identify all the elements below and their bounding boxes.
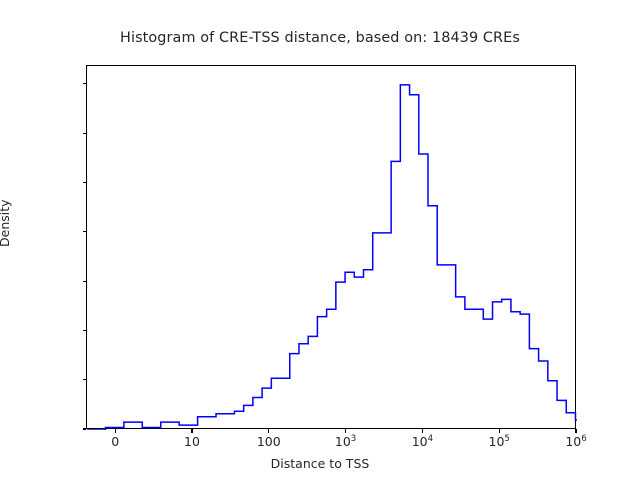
x-tick-label: 104 [412,434,433,449]
histogram-step-plot [87,66,577,430]
x-tick-mantissa: 10 [489,434,505,449]
x-tick-label: 100 [257,434,281,449]
x-tick-label: 103 [335,434,356,449]
histogram-outline [87,85,577,430]
x-axis-label: Distance to TSS [0,456,640,471]
figure-canvas: Histogram of CRE-TSS distance, based on:… [0,0,640,480]
x-tick-mantissa: 10 [412,434,428,449]
x-tick-exponent: 4 [428,434,433,444]
x-tick-label: 0 [111,434,119,449]
x-tick-mantissa: 10 [335,434,351,449]
plot-area [86,65,576,429]
x-tick-label: 105 [489,434,510,449]
chart-title: Histogram of CRE-TSS distance, based on:… [0,30,640,46]
x-tick-exponent: 6 [581,434,586,444]
x-tick-mantissa: 10 [565,434,581,449]
x-tick-exponent: 3 [351,434,356,444]
x-tick-exponent: 5 [504,434,509,444]
x-tick-label: 106 [565,434,586,449]
x-tick-label: 10 [184,434,200,449]
y-axis-label: Density [0,199,12,247]
